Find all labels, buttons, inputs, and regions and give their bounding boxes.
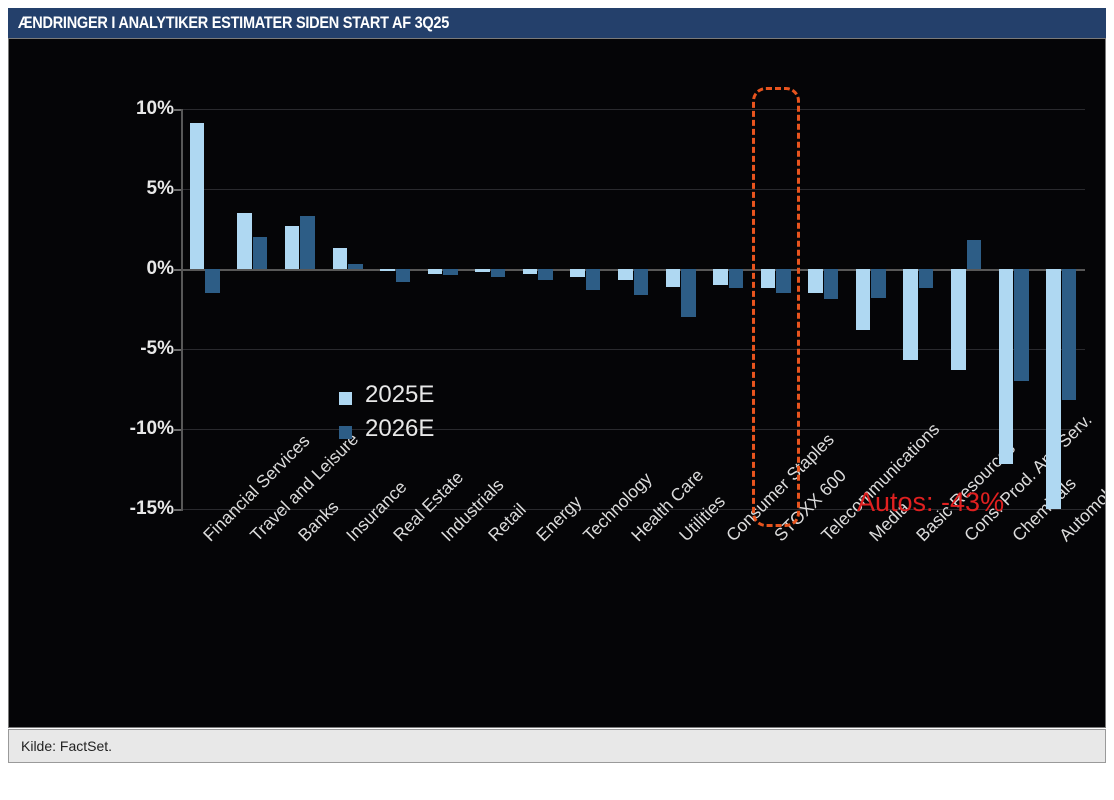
- bar-2025e-technology: [570, 269, 585, 277]
- page-title: ÆNDRINGER I ANALYTIKER ESTIMATER SIDEN S…: [18, 14, 449, 33]
- highlight-box-stoxx-600: [752, 87, 800, 527]
- bar-2025e-banks: [285, 226, 300, 269]
- bar-2026e-industrials: [443, 269, 458, 275]
- chart-plot-area: 10%5%0%-5%-10%-15%Financial ServicesTrav…: [9, 39, 1105, 727]
- bar-2026e-basic-resources: [919, 269, 934, 288]
- bar-2026e-travel-and-leisure: [253, 237, 268, 269]
- bar-2025e-insurance: [333, 248, 348, 269]
- y-axis-tick-label: -5%: [104, 338, 174, 360]
- bar-2025e-consumer-staples: [713, 269, 728, 285]
- gridline: [181, 429, 1085, 430]
- bar-2026e-real-estate: [396, 269, 411, 282]
- bar-2026e-banks: [300, 216, 315, 269]
- y-axis-tick-label: 5%: [104, 178, 174, 200]
- bar-2026e-energy: [538, 269, 553, 280]
- bar-2026e-chemicals: [1014, 269, 1029, 381]
- annotation-autos: Autos: -43%: [857, 487, 1004, 518]
- gridline: [181, 349, 1085, 350]
- chart-figure: ÆNDRINGER I ANALYTIKER ESTIMATER SIDEN S…: [0, 0, 1114, 800]
- bar-2025e-travel-and-leisure: [237, 213, 252, 269]
- legend-swatch-2026e: [339, 426, 352, 439]
- bar-2026e-media: [871, 269, 886, 298]
- x-axis-label-energy: Energy: [532, 492, 586, 546]
- bar-2025e-financial-services: [190, 123, 205, 269]
- bar-2026e-technology: [586, 269, 601, 290]
- legend-label-2025e: 2025E: [365, 381, 434, 409]
- source-text: Kilde: FactSet.: [21, 738, 112, 754]
- bar-2026e-financial-services: [205, 269, 220, 293]
- bar-2026e-health-care: [634, 269, 649, 295]
- y-axis-tick-label: -10%: [104, 418, 174, 440]
- bar-2025e-telecommunications: [808, 269, 823, 293]
- bar-2025e-energy: [523, 269, 538, 274]
- bar-2026e-consumer-staples: [729, 269, 744, 288]
- y-axis-tick: [174, 509, 181, 511]
- chart-title-bar: ÆNDRINGER I ANALYTIKER ESTIMATER SIDEN S…: [8, 8, 1106, 38]
- legend-swatch-2025e: [339, 392, 352, 405]
- bar-2025e-cons-prod-and-serv: [951, 269, 966, 370]
- bar-2025e-media: [856, 269, 871, 330]
- bar-2025e-real-estate: [380, 269, 395, 271]
- bar-2026e-automobiles-and-parts: [1062, 269, 1077, 400]
- y-axis-tick: [174, 349, 181, 351]
- bar-2025e-basic-resources: [903, 269, 918, 360]
- bar-2026e-telecommunications: [824, 269, 839, 299]
- y-axis-tick-label: 0%: [104, 258, 174, 280]
- bar-2026e-retail: [491, 269, 506, 277]
- bar-2025e-utilities: [666, 269, 681, 287]
- y-axis-tick-label: -15%: [104, 498, 174, 520]
- y-axis-tick: [174, 109, 181, 111]
- chart-source-footer: Kilde: FactSet.: [8, 729, 1106, 763]
- legend-label-2026e: 2026E: [365, 415, 434, 443]
- gridline: [181, 109, 1085, 110]
- gridline: [181, 189, 1085, 190]
- bar-2026e-utilities: [681, 269, 696, 317]
- y-axis-tick: [174, 189, 181, 191]
- bar-2026e-cons-prod-and-serv: [967, 240, 982, 269]
- bar-2025e-chemicals: [999, 269, 1014, 464]
- y-axis-tick-label: 10%: [104, 98, 174, 120]
- bar-2025e-health-care: [618, 269, 633, 280]
- chart-plot-panel: 10%5%0%-5%-10%-15%Financial ServicesTrav…: [8, 38, 1106, 728]
- bar-2025e-industrials: [428, 269, 443, 274]
- bar-2026e-insurance: [348, 264, 363, 269]
- bar-2025e-automobiles-and-parts: [1046, 269, 1061, 509]
- y-axis-tick: [174, 429, 181, 431]
- bar-2025e-retail: [475, 269, 490, 272]
- y-axis-tick-labels: 10%5%0%-5%-10%-15%: [104, 39, 174, 727]
- y-axis-line: [181, 109, 183, 511]
- y-axis-tick: [174, 269, 181, 271]
